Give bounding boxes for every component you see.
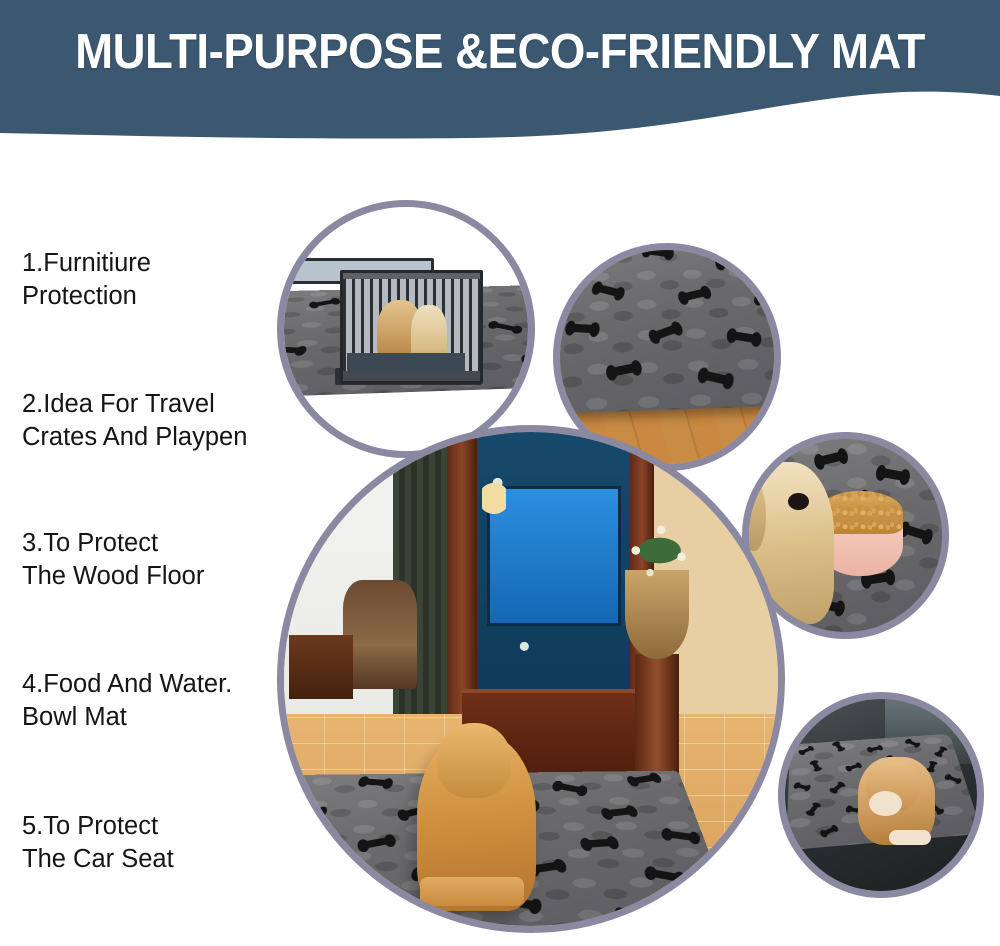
car-puppy-muzzle (869, 791, 902, 816)
room-dog-head (437, 723, 511, 797)
room-column-left (447, 432, 477, 714)
bone-pattern (560, 250, 774, 415)
room-lamp (482, 476, 507, 520)
room-flower-arrangement (620, 511, 699, 590)
photo-collage (0, 0, 1000, 946)
photo-circle-car-seat (778, 692, 984, 898)
car-puppy-paws (889, 830, 931, 845)
product-infographic: MULTI-PURPOSE &ECO-FRIENDLY MAT 1.Furnit… (0, 0, 1000, 946)
room-dog-paws (420, 877, 524, 907)
car-seat-scene (785, 699, 977, 891)
room-side-table (289, 635, 353, 699)
photo-circle-living-room (277, 425, 785, 933)
photo-circle-crate (277, 200, 535, 458)
floor-mat-surface (560, 250, 774, 415)
room-television (487, 486, 621, 625)
crate-tray (347, 353, 464, 373)
crate-scene (284, 207, 528, 451)
room-armchair (343, 580, 417, 689)
living-room-scene (284, 432, 778, 926)
